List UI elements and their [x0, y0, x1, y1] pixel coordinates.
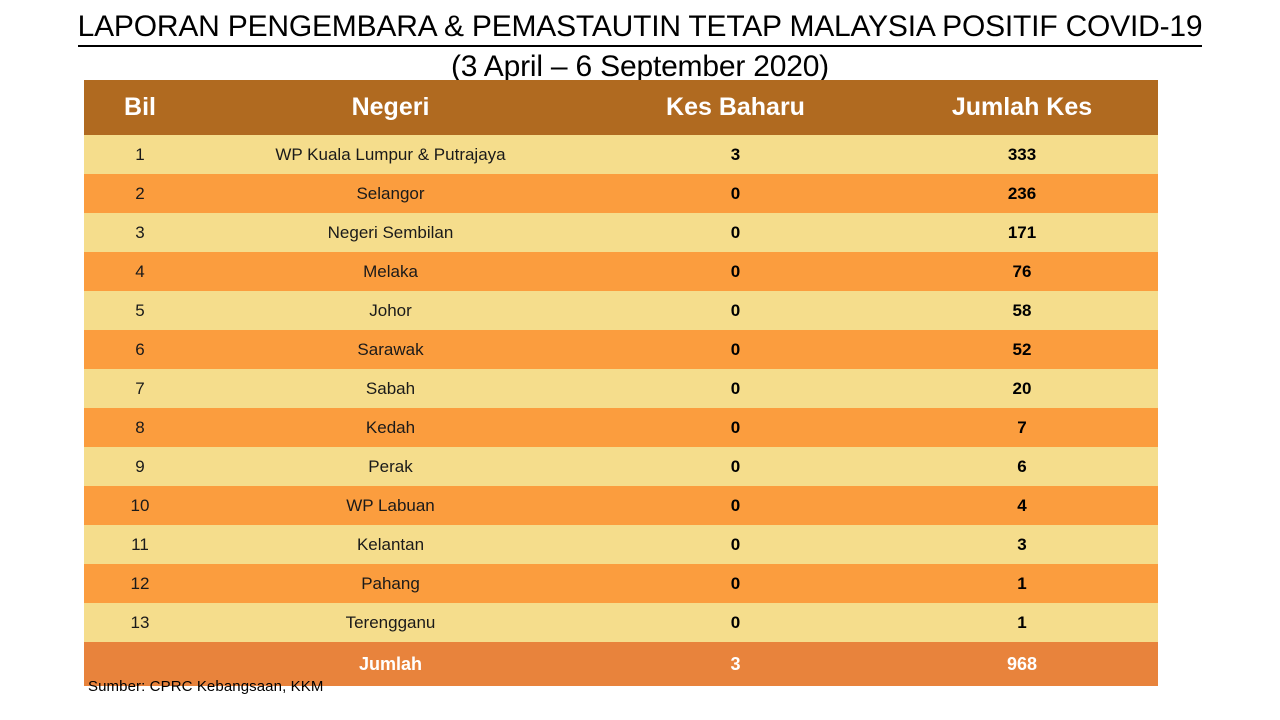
cell-bil: 2: [84, 174, 196, 213]
cell-new-cases: 0: [585, 369, 886, 408]
table-row: 12Pahang01: [84, 564, 1158, 603]
table-row: 10WP Labuan04: [84, 486, 1158, 525]
cases-table-container: Bil Negeri Kes Baharu Jumlah Kes 1WP Kua…: [84, 80, 1158, 686]
cell-new-cases: 0: [585, 174, 886, 213]
cell-bil: 9: [84, 447, 196, 486]
cell-total-cases: 4: [886, 486, 1158, 525]
cell-total-cases: 333: [886, 135, 1158, 174]
cell-bil: 13: [84, 603, 196, 642]
cell-state-name: Johor: [196, 291, 585, 330]
cell-bil: 11: [84, 525, 196, 564]
table-row: 6Sarawak052: [84, 330, 1158, 369]
table-header-row: Bil Negeri Kes Baharu Jumlah Kes: [84, 80, 1158, 135]
cell-state-name: WP Labuan: [196, 486, 585, 525]
table-row: 4Melaka076: [84, 252, 1158, 291]
cell-new-cases: 0: [585, 291, 886, 330]
cell-bil: 4: [84, 252, 196, 291]
page-title: LAPORAN PENGEMBARA & PEMASTAUTIN TETAP M…: [0, 8, 1280, 87]
cell-bil: 5: [84, 291, 196, 330]
cell-new-cases: 0: [585, 486, 886, 525]
cell-new-cases: 0: [585, 213, 886, 252]
cell-state-name: Sarawak: [196, 330, 585, 369]
cell-total-cases: 171: [886, 213, 1158, 252]
cell-total-cases: 7: [886, 408, 1158, 447]
cases-table: Bil Negeri Kes Baharu Jumlah Kes 1WP Kua…: [84, 80, 1158, 686]
cell-total-cases: 58: [886, 291, 1158, 330]
cell-new-cases: 0: [585, 330, 886, 369]
table-body: 1WP Kuala Lumpur & Putrajaya33332Selango…: [84, 135, 1158, 686]
cell-new-cases: 0: [585, 525, 886, 564]
table-row: 5Johor058: [84, 291, 1158, 330]
cell-bil: 7: [84, 369, 196, 408]
cell-total-cases: 52: [886, 330, 1158, 369]
cell-total-cases: 1: [886, 564, 1158, 603]
cell-state-name: Melaka: [196, 252, 585, 291]
cell-bil: 8: [84, 408, 196, 447]
cell-bil: 10: [84, 486, 196, 525]
table-row: 3Negeri Sembilan0171: [84, 213, 1158, 252]
cell-bil: 6: [84, 330, 196, 369]
cell-state-name: Terengganu: [196, 603, 585, 642]
cell-total-cases: 236: [886, 174, 1158, 213]
cell-bil: 1: [84, 135, 196, 174]
cell-total-cases: 3: [886, 525, 1158, 564]
table-row: 11Kelantan03: [84, 525, 1158, 564]
cell-state-name: Negeri Sembilan: [196, 213, 585, 252]
cell-total-cases: 6: [886, 447, 1158, 486]
cell-total-cases: 1: [886, 603, 1158, 642]
cell-state-name: Perak: [196, 447, 585, 486]
cell-state-name: Selangor: [196, 174, 585, 213]
cell-new-cases: 0: [585, 252, 886, 291]
table-row: 9Perak06: [84, 447, 1158, 486]
cell-state-name: Kedah: [196, 408, 585, 447]
title-line-1: LAPORAN PENGEMBARA & PEMASTAUTIN TETAP M…: [78, 8, 1203, 47]
cell-bil: 12: [84, 564, 196, 603]
cell-state-name: Kelantan: [196, 525, 585, 564]
cell-total-cases: 20: [886, 369, 1158, 408]
slide-root: LAPORAN PENGEMBARA & PEMASTAUTIN TETAP M…: [0, 0, 1280, 720]
table-row: 7Sabah020: [84, 369, 1158, 408]
cell-new-cases: 0: [585, 564, 886, 603]
column-header-kes-baharu: Kes Baharu: [585, 80, 886, 135]
table-header: Bil Negeri Kes Baharu Jumlah Kes: [84, 80, 1158, 135]
cell-new-cases: 0: [585, 603, 886, 642]
cell-new-cases: 3: [585, 135, 886, 174]
total-new-cases: 3: [585, 642, 886, 686]
column-header-bil: Bil: [84, 80, 196, 135]
cell-state-name: WP Kuala Lumpur & Putrajaya: [196, 135, 585, 174]
cell-state-name: Pahang: [196, 564, 585, 603]
cell-new-cases: 0: [585, 408, 886, 447]
cell-bil: 3: [84, 213, 196, 252]
table-row: 2Selangor0236: [84, 174, 1158, 213]
column-header-jumlah-kes: Jumlah Kes: [886, 80, 1158, 135]
column-header-negeri: Negeri: [196, 80, 585, 135]
cell-total-cases: 76: [886, 252, 1158, 291]
cell-new-cases: 0: [585, 447, 886, 486]
table-row: 13Terengganu01: [84, 603, 1158, 642]
cell-state-name: Sabah: [196, 369, 585, 408]
table-row: 1WP Kuala Lumpur & Putrajaya3333: [84, 135, 1158, 174]
total-total-cases: 968: [886, 642, 1158, 686]
source-footnote: Sumber: CPRC Kebangsaan, KKM: [88, 678, 323, 695]
table-row: 8Kedah07: [84, 408, 1158, 447]
